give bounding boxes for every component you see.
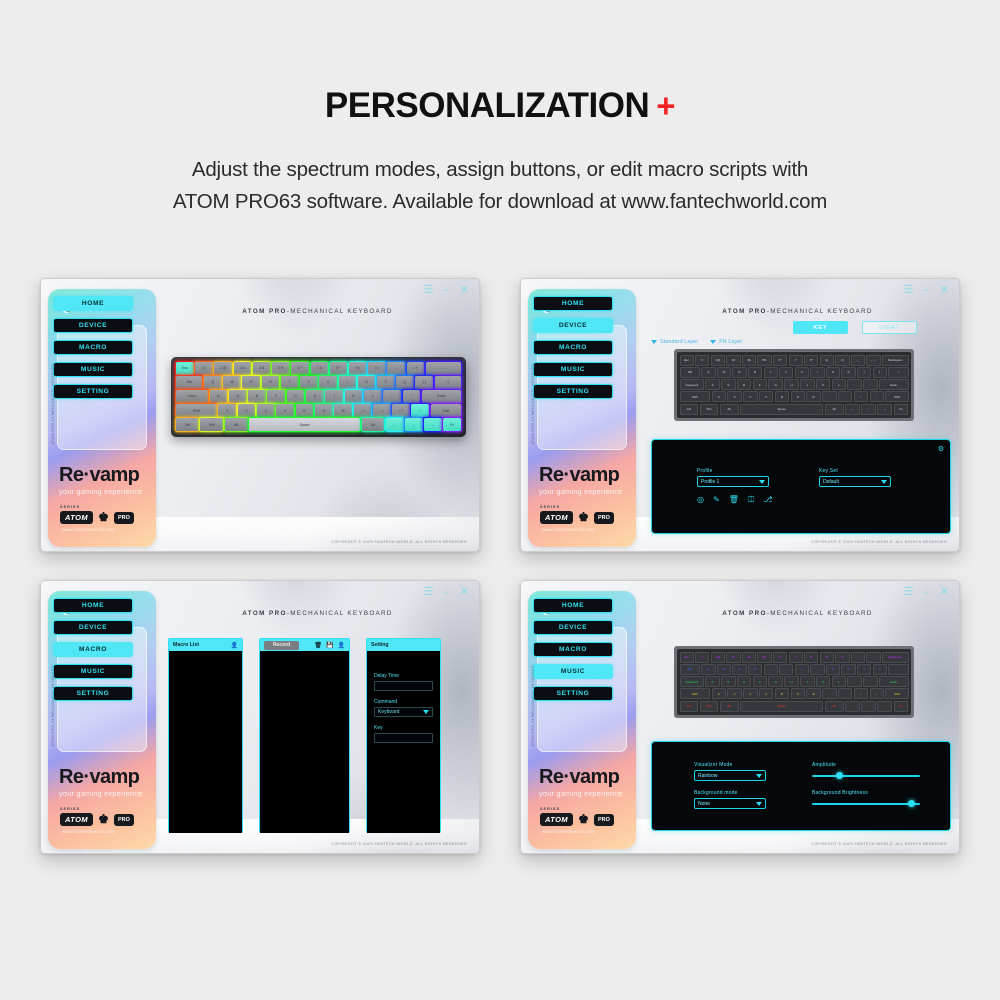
keyboard-key[interactable]: CapsLock bbox=[680, 379, 705, 390]
keyboard-key[interactable]: , bbox=[822, 391, 837, 402]
revamp-title-b: vamp bbox=[569, 766, 619, 788]
copyright-home: COPYRIGHT © 2023 FANTECH WORLD. ALL RIGH… bbox=[331, 539, 467, 544]
keyboard-key[interactable]: L bbox=[832, 676, 847, 687]
keyboard-key[interactable]: G bbox=[768, 676, 783, 687]
device-control-panel: ⚙ Profile Profile 1 ◎ ✎ 🗑 ⎅ ⎇ Key Set bbox=[651, 439, 951, 534]
macro-record-actions: 🗑 💾 👤 bbox=[314, 642, 345, 649]
sidebar-item-setting[interactable]: SETTING bbox=[53, 384, 133, 399]
keyboard-key[interactable]: Q bbox=[204, 376, 222, 389]
series-block-home: SERIES ATOM ♚ PRO bbox=[60, 505, 134, 524]
keyboard-key[interactable]: Alt bbox=[720, 701, 739, 712]
keyboard-key[interactable]: 6 ^ bbox=[291, 362, 309, 375]
fantech-shield-icon: ♚ bbox=[97, 813, 110, 826]
keyboard-key[interactable]: Shift bbox=[431, 404, 461, 417]
keyboard-key[interactable]: Shift bbox=[885, 391, 908, 402]
keyboard-key[interactable]: C bbox=[743, 688, 758, 699]
keyboard-key[interactable]: K bbox=[345, 390, 363, 403]
keyboard-row: CtrlWinAltSpaceAlt←↓→Fn bbox=[680, 701, 909, 712]
keyboard-key[interactable]: A bbox=[210, 390, 228, 403]
keyboard-key[interactable]: ; bbox=[847, 379, 862, 390]
keyboard-key[interactable]: Caps bbox=[176, 390, 208, 403]
keyboard-key[interactable]: T bbox=[764, 367, 778, 378]
amplitude-field: Amplitude bbox=[812, 762, 920, 777]
keyboard-key[interactable]: N bbox=[791, 688, 806, 699]
keyboard-key[interactable]: F bbox=[753, 379, 768, 390]
sidebar-item-device[interactable]: DEVICE bbox=[533, 620, 613, 635]
keyboard-key[interactable]: 1! bbox=[695, 652, 709, 663]
sidebar-item-macro[interactable]: MACRO bbox=[533, 642, 613, 657]
keyboard-row: Esc1 !2 @3 #4 $5 %6 ^7 &8 *9 (0 )- _= +← bbox=[176, 362, 461, 375]
background-brightness-field: Background Brightness bbox=[812, 790, 920, 805]
sidebar-vertical-text: ATOM PRO 63 MECHANICAL KEYBOARD bbox=[531, 363, 535, 445]
keyboard-key[interactable]: U bbox=[795, 664, 809, 675]
revamp-block-device: Re·vamp your gaming experience bbox=[539, 465, 622, 496]
sidebar-item-music[interactable]: MUSIC bbox=[533, 362, 613, 377]
badge-atom: ATOM bbox=[540, 511, 573, 524]
keyboard-key[interactable]: . bbox=[838, 391, 853, 402]
keyboard-key[interactable]: 7 bbox=[789, 652, 803, 663]
visualizer-mode-select[interactable]: Rainbow bbox=[694, 770, 766, 781]
keyboard-key[interactable]: Space bbox=[740, 701, 824, 712]
keyboard-key[interactable]: ←→ bbox=[866, 355, 880, 366]
sidebar-nav-macro: HOME DEVICE MACRO MUSIC SETTING bbox=[53, 598, 133, 708]
keyboard-key[interactable]: 3# bbox=[726, 355, 740, 366]
keyboard-key[interactable]: I bbox=[810, 664, 824, 675]
keyboard-key[interactable]: W bbox=[223, 376, 241, 389]
keyboard-key[interactable]: H bbox=[784, 379, 799, 390]
keyboard-key[interactable]: O bbox=[358, 376, 376, 389]
keyboard-key[interactable]: J bbox=[800, 379, 815, 390]
keyboard-key[interactable]: Shift bbox=[680, 391, 711, 402]
keyboard-key[interactable]: L bbox=[364, 390, 382, 403]
keyboard-key[interactable]: H bbox=[306, 390, 324, 403]
tab-light[interactable]: LIGHT bbox=[862, 321, 917, 334]
keyboard-key[interactable]: B bbox=[775, 391, 790, 402]
keyboard-key[interactable]: Enter bbox=[879, 379, 908, 390]
keyboard-key[interactable]: 2 @ bbox=[214, 362, 232, 375]
amplitude-slider-knob[interactable] bbox=[836, 772, 843, 779]
keyboard-key[interactable]: [ bbox=[857, 664, 871, 675]
macro-record-body[interactable] bbox=[260, 651, 349, 833]
sidebar-item-setting[interactable]: SETTING bbox=[53, 686, 133, 701]
tray-icon[interactable]: ☰ bbox=[904, 285, 914, 296]
series-label: SERIES bbox=[540, 505, 614, 509]
keyboard-key[interactable]: → bbox=[424, 418, 442, 431]
keyboard-key[interactable]: H bbox=[784, 676, 799, 687]
target-icon[interactable]: ◎ bbox=[697, 496, 704, 504]
record-button[interactable]: Record bbox=[264, 641, 299, 650]
keyboard-key[interactable]: X bbox=[727, 391, 742, 402]
keyboard-key[interactable]: Alt bbox=[362, 418, 385, 431]
sidebar-item-setting[interactable]: SETTING bbox=[533, 384, 613, 399]
keyboard-key[interactable]: 9( bbox=[820, 652, 834, 663]
keyboard-key[interactable]: G bbox=[287, 390, 305, 403]
keyboard-key[interactable]: C bbox=[743, 391, 758, 402]
keyboard-key[interactable]: / ? bbox=[392, 404, 410, 417]
series-block-macro: SERIES ATOM ♚ PRO bbox=[60, 807, 134, 826]
keyboard-key[interactable]: 4$ bbox=[742, 355, 756, 366]
keyboard-key[interactable]: O bbox=[826, 664, 840, 675]
keyboard-key[interactable]: 1 ! bbox=[195, 362, 213, 375]
layer-tab-fn[interactable]: FN Layer bbox=[710, 339, 742, 345]
keyboard-key[interactable]: Esc bbox=[680, 355, 694, 366]
macro-list-title: Macro List bbox=[173, 642, 199, 648]
close-icon[interactable]: ✕ bbox=[940, 587, 949, 598]
import-icon[interactable]: ⎅ bbox=[748, 496, 754, 504]
sidebar-item-home[interactable]: HOME bbox=[533, 598, 613, 613]
layer-tab-fn-label: FN Layer bbox=[719, 339, 742, 345]
chevron-down-icon bbox=[710, 340, 716, 344]
app-title-rest: -MECHANICAL KEYBOARD bbox=[767, 308, 873, 315]
close-icon[interactable]: ✕ bbox=[940, 285, 949, 296]
keyboard-key[interactable]: Backspace bbox=[882, 355, 909, 366]
keyboard-key[interactable]: R bbox=[748, 367, 762, 378]
keyboard-key[interactable]: / bbox=[854, 391, 869, 402]
revamp-block-home: Re·vamp your gaming experience bbox=[59, 465, 142, 496]
keyboard-key[interactable]: 8* bbox=[804, 355, 818, 366]
macro-list-body[interactable] bbox=[169, 651, 242, 833]
keyset-field: Key Set Default bbox=[819, 468, 891, 487]
keyboard-key[interactable]: 4 $ bbox=[253, 362, 271, 375]
keyboard-key[interactable]: Tab bbox=[176, 376, 202, 389]
keyboard-key[interactable]: E bbox=[732, 367, 746, 378]
keyboard-key[interactable]: 6^ bbox=[773, 652, 787, 663]
keyboard-key[interactable]: Alt bbox=[720, 404, 739, 415]
sidebar-item-music[interactable]: MUSIC bbox=[53, 362, 133, 377]
keyboard-key[interactable]: G bbox=[768, 379, 783, 390]
keyboard-key[interactable]: [ bbox=[857, 367, 871, 378]
keyboard-key[interactable]: A bbox=[705, 379, 720, 390]
keyboard-key[interactable]: S bbox=[721, 379, 736, 390]
keyboard-key[interactable]: 8* bbox=[804, 652, 818, 663]
keyboard-key[interactable]: L bbox=[832, 379, 847, 390]
background-mode-select[interactable]: None bbox=[694, 798, 766, 809]
close-icon[interactable]: ✕ bbox=[460, 285, 469, 296]
keyboard-key[interactable]: X bbox=[727, 688, 742, 699]
keyboard-key[interactable]: N bbox=[791, 391, 806, 402]
keyboard-key[interactable]: 0) bbox=[835, 355, 849, 366]
keyboard-key[interactable]: 7 & bbox=[311, 362, 329, 375]
series-label: SERIES bbox=[60, 807, 134, 811]
keyboard-key[interactable]: R bbox=[262, 376, 280, 389]
delete-icon[interactable]: 🗑 bbox=[314, 642, 322, 649]
keyboard-key[interactable]: Y bbox=[779, 367, 793, 378]
delay-time-label: Delay Time bbox=[374, 673, 433, 679]
layer-tab-standard[interactable]: Standard Layer bbox=[651, 339, 698, 345]
keyboard-key[interactable]: 7 bbox=[789, 355, 803, 366]
keyboard-row: CapsLockASDFGHJKL;’Enter bbox=[680, 676, 909, 687]
keyboard-key[interactable]: Win bbox=[200, 418, 223, 431]
fantech-shield-icon: ♚ bbox=[97, 511, 110, 524]
app-title-bold: ATOM PRO bbox=[242, 308, 287, 315]
keyboard-key[interactable]: → bbox=[877, 404, 892, 415]
keyboard-row: CtrlWinAltSpaceAlt←↓→Fn bbox=[176, 418, 461, 431]
keyboard-key[interactable]: J bbox=[325, 390, 343, 403]
keyboard-key[interactable]: Tab bbox=[680, 664, 700, 675]
keyboard-key[interactable]: Shift bbox=[680, 688, 711, 699]
keyboard-key[interactable]: Z bbox=[712, 391, 727, 402]
keyboard-key[interactable]: Tab bbox=[680, 367, 700, 378]
keyboard-key[interactable]: 5 % bbox=[272, 362, 290, 375]
keyboard-key[interactable]: Fn bbox=[894, 701, 909, 712]
sidebar-item-device[interactable]: DEVICE bbox=[53, 318, 133, 333]
keyboard-key[interactable]: W bbox=[717, 664, 731, 675]
tray-icon[interactable]: ☰ bbox=[424, 285, 434, 296]
keyboard-key[interactable]: D bbox=[248, 390, 266, 403]
revamp-title-a: Re bbox=[539, 464, 563, 486]
keyboard-key[interactable]: Alt bbox=[825, 701, 844, 712]
sidebar-item-home[interactable]: HOME bbox=[53, 296, 133, 311]
keyboard-key[interactable]: \ bbox=[888, 664, 908, 675]
keyboard-key[interactable]: ↓ bbox=[861, 701, 876, 712]
keyset-value: Default bbox=[823, 479, 839, 485]
keyboard-key[interactable]: K bbox=[816, 379, 831, 390]
delay-time-input[interactable] bbox=[374, 681, 433, 691]
keyboard-key[interactable]: M bbox=[806, 688, 821, 699]
sidebar-item-macro[interactable]: MACRO bbox=[53, 642, 133, 657]
keyboard-key[interactable]: 8 * bbox=[330, 362, 348, 375]
keyboard-key[interactable]: M bbox=[334, 404, 352, 417]
keyboard-key[interactable]: Enter bbox=[879, 676, 908, 687]
keyboard-key[interactable]: Space bbox=[740, 404, 824, 415]
keyboard-key[interactable]: Ctrl bbox=[680, 404, 699, 415]
keyboard-key[interactable]: 1! bbox=[695, 355, 709, 366]
key-input[interactable] bbox=[374, 733, 433, 743]
keyboard-key[interactable]: ↑ bbox=[870, 688, 885, 699]
keyboard-key[interactable]: C bbox=[257, 404, 275, 417]
close-icon[interactable]: ✕ bbox=[460, 587, 469, 598]
sidebar-item-music[interactable]: MUSIC bbox=[53, 664, 133, 679]
keyboard-key[interactable]: . bbox=[838, 688, 853, 699]
keyboard-key[interactable]: X bbox=[238, 404, 256, 417]
revamp-block-macro: Re·vamp your gaming experience bbox=[59, 767, 142, 798]
keyboard-key[interactable]: 2@ bbox=[711, 355, 725, 366]
keyboard-key[interactable]: 0 ) bbox=[368, 362, 386, 375]
keyboard-key[interactable]: Backspace bbox=[882, 652, 909, 663]
keyboard-key[interactable]: Fn bbox=[443, 418, 461, 431]
user-icon[interactable]: 👤 bbox=[338, 642, 345, 649]
export-icon[interactable]: ⎇ bbox=[763, 496, 772, 504]
sidebar-item-music[interactable]: MUSIC bbox=[533, 664, 613, 679]
series-block-device: SERIES ATOM ♚ PRO bbox=[540, 505, 614, 524]
keyboard-key[interactable]: 3 # bbox=[234, 362, 252, 375]
key-mapping-keyboard[interactable]: Esc1!2@3#4$5%6^78*9(0)-_←→BackspaceTabQW… bbox=[674, 349, 914, 421]
keyboard-key[interactable]: \ bbox=[888, 367, 908, 378]
keyboard-key[interactable]: 9 ( bbox=[349, 362, 367, 375]
save-icon[interactable]: 💾 bbox=[326, 642, 333, 649]
keyboard-key[interactable]: S bbox=[229, 390, 247, 403]
macro-list-user-icon[interactable]: 👤 bbox=[231, 642, 238, 649]
sidebar-vertical-text: ATOM PRO 63 MECHANICAL KEYBOARD bbox=[51, 363, 55, 445]
keyboard-key[interactable]: P bbox=[841, 664, 855, 675]
profile-select[interactable]: Profile 1 bbox=[697, 476, 769, 487]
keyboard-key[interactable]: = + bbox=[407, 362, 425, 375]
keyboard-key[interactable]: Win bbox=[700, 404, 719, 415]
layer-tabs: Standard Layer FN Layer bbox=[651, 339, 742, 345]
minimize-icon[interactable]: – bbox=[924, 285, 930, 296]
keyboard-key[interactable]: ] } bbox=[415, 376, 433, 389]
visualizer-mode-label: Visualizer Mode bbox=[694, 762, 766, 768]
keyboard-key[interactable]: 5% bbox=[757, 652, 771, 663]
keyboard-key[interactable]: O bbox=[826, 367, 840, 378]
keyboard-key[interactable]: B bbox=[775, 688, 790, 699]
keyset-select[interactable]: Default bbox=[819, 476, 891, 487]
keyboard-key[interactable]: B bbox=[296, 404, 314, 417]
sidebar-item-device[interactable]: DEVICE bbox=[53, 620, 133, 635]
keyboard-key[interactable]: Q bbox=[701, 367, 715, 378]
keyboard-key[interactable]: ← bbox=[845, 404, 860, 415]
keyboard-key[interactable]: Enter bbox=[422, 390, 461, 403]
tray-icon[interactable]: ☰ bbox=[424, 587, 434, 598]
profile-field: Profile Profile 1 ◎ ✎ 🗑 ⎅ ⎇ bbox=[697, 468, 772, 504]
keyboard-key[interactable]: ; bbox=[847, 676, 862, 687]
sidebar-item-macro[interactable]: MACRO bbox=[53, 340, 133, 355]
gear-icon[interactable]: ⚙ bbox=[938, 445, 944, 453]
amplitude-slider[interactable] bbox=[812, 775, 920, 777]
app-window-music: ☰ – ✕ ATOM PRO-MECHANICAL KEYBOARD Esc1!… bbox=[520, 580, 960, 854]
sidebar-item-macro[interactable]: MACRO bbox=[533, 340, 613, 355]
keyboard-key[interactable]: W bbox=[717, 367, 731, 378]
keyboard-key[interactable]: ← bbox=[386, 418, 404, 431]
keyboard-key[interactable]: -_ bbox=[851, 355, 865, 366]
keyboard-key[interactable]: E bbox=[732, 664, 746, 675]
keyboard-key[interactable]: Fn bbox=[894, 404, 909, 415]
keyboard-key[interactable]: V bbox=[759, 391, 774, 402]
keyboard-key[interactable]: V bbox=[276, 404, 294, 417]
keyboard-key[interactable]: Z bbox=[712, 688, 727, 699]
keyboard-key[interactable]: A bbox=[705, 676, 720, 687]
keyboard-key[interactable]: D bbox=[737, 676, 752, 687]
keyboard-key[interactable]: Shift bbox=[885, 688, 908, 699]
macro-list-box: Macro List 👤 bbox=[168, 638, 243, 833]
keyboard-key[interactable]: T bbox=[281, 376, 299, 389]
revamp-title-a: Re bbox=[539, 766, 563, 788]
keyboard-key[interactable]: R bbox=[748, 664, 762, 675]
background-brightness-slider-knob[interactable] bbox=[908, 800, 915, 807]
keyboard-key[interactable]: P bbox=[377, 376, 395, 389]
keyboard-key[interactable]: , < bbox=[354, 404, 372, 417]
keyboard-key[interactable]: Y bbox=[779, 664, 793, 675]
keyboard-key[interactable]: I bbox=[339, 376, 357, 389]
keyboard-key[interactable]: Ctrl bbox=[176, 418, 199, 431]
keyboard-key[interactable]: , bbox=[822, 688, 837, 699]
keyboard-key[interactable]: [ { bbox=[396, 376, 414, 389]
chevron-down-icon bbox=[881, 480, 887, 484]
sidebar-item-home[interactable]: HOME bbox=[53, 598, 133, 613]
keyboard-key[interactable]: F bbox=[267, 390, 285, 403]
keyboard-key[interactable]: Alt bbox=[825, 404, 844, 415]
keyboard-key[interactable]: / bbox=[854, 688, 869, 699]
revamp-title: Re·vamp bbox=[59, 767, 142, 787]
keyboard-key[interactable]: U bbox=[795, 367, 809, 378]
keyboard-key[interactable]: Z bbox=[218, 404, 236, 417]
keyboard-key[interactable]: D bbox=[737, 379, 752, 390]
edit-icon[interactable]: ✎ bbox=[713, 496, 720, 504]
keyboard-key[interactable]: ← bbox=[426, 362, 461, 375]
keyboard-key[interactable]: S bbox=[721, 676, 736, 687]
keyboard-key[interactable]: ↑ bbox=[411, 404, 429, 417]
keyboard-key[interactable]: U bbox=[319, 376, 337, 389]
keyboard-key[interactable]: F bbox=[753, 676, 768, 687]
keyboard-key[interactable]: 9( bbox=[820, 355, 834, 366]
keyboard-key[interactable]: Y bbox=[300, 376, 318, 389]
keyboard-key[interactable]: ' ” bbox=[403, 390, 421, 403]
keyboard-key[interactable]: Space bbox=[249, 418, 360, 431]
keyboard-key[interactable]: ’ bbox=[863, 676, 878, 687]
keyboard-key[interactable]: ] bbox=[873, 367, 887, 378]
sidebar-item-device[interactable]: DEVICE bbox=[533, 318, 613, 333]
keyboard-key[interactable]: 3# bbox=[726, 652, 740, 663]
keyboard-key[interactable]: Q bbox=[701, 664, 715, 675]
keyboard-key[interactable]: P bbox=[841, 367, 855, 378]
sidebar-item-home[interactable]: HOME bbox=[533, 296, 613, 311]
badge-atom: ATOM bbox=[60, 813, 93, 826]
keyboard-key[interactable]: ← bbox=[845, 701, 860, 712]
sidebar-item-setting[interactable]: SETTING bbox=[533, 686, 613, 701]
keyboard-key[interactable]: V bbox=[759, 688, 774, 699]
keyboard-key[interactable]: ’ bbox=[863, 379, 878, 390]
revamp-title-b: vamp bbox=[569, 464, 619, 486]
command-select[interactable]: Keyboard bbox=[374, 707, 433, 717]
keyboard-key[interactable]: T bbox=[764, 664, 778, 675]
keyboard-key[interactable]: 4$ bbox=[742, 652, 756, 663]
keyboard-key[interactable]: CapsLock bbox=[680, 676, 705, 687]
keyboard-row: CapsLockASDFGHJKL;’Enter bbox=[680, 379, 909, 390]
keyboard-key[interactable]: J bbox=[800, 676, 815, 687]
keyboard-row: TabQWERTYUIOP[ {] }\ | bbox=[176, 376, 461, 389]
keyboard-key[interactable]: \ | bbox=[435, 376, 461, 389]
keyboard-key[interactable]: Esc bbox=[176, 362, 194, 375]
minimize-icon[interactable]: – bbox=[444, 587, 450, 598]
keyboard-key[interactable]: M bbox=[806, 391, 821, 402]
keyboard-key[interactable]: ; : bbox=[383, 390, 401, 403]
tab-key[interactable]: KEY bbox=[793, 321, 848, 334]
keyboard-key[interactable]: Win bbox=[700, 701, 719, 712]
series-label: SERIES bbox=[540, 807, 614, 811]
keyboard-key[interactable]: Alt bbox=[225, 418, 248, 431]
music-keyboard-preview[interactable]: Esc1!2@3#4$5%6^78*9(0)-_←→BackspaceTabQW… bbox=[674, 646, 914, 718]
keyboard-key[interactable]: ] bbox=[873, 664, 887, 675]
keyboard-key[interactable]: K bbox=[816, 676, 831, 687]
keyboard-key[interactable]: Ctrl bbox=[680, 701, 699, 712]
keyboard-key[interactable]: ↓ bbox=[861, 404, 876, 415]
keyboard-key[interactable]: ←→ bbox=[866, 652, 880, 663]
background-brightness-slider[interactable] bbox=[812, 803, 920, 805]
keyboard-key[interactable]: N bbox=[315, 404, 333, 417]
minimize-icon[interactable]: – bbox=[924, 587, 930, 598]
keyboard-key[interactable]: ↓ bbox=[405, 418, 423, 431]
keyboard-key[interactable]: . > bbox=[373, 404, 391, 417]
tray-icon[interactable]: ☰ bbox=[904, 587, 914, 598]
keyboard-key[interactable]: Esc bbox=[680, 652, 694, 663]
keyboard-key[interactable]: → bbox=[877, 701, 892, 712]
minimize-icon[interactable]: – bbox=[444, 285, 450, 296]
keyboard-key[interactable]: 0) bbox=[835, 652, 849, 663]
delete-icon[interactable]: 🗑 bbox=[729, 496, 739, 504]
keyboard-key[interactable]: Shift bbox=[176, 404, 217, 417]
keyboard-key[interactable]: -_ bbox=[851, 652, 865, 663]
keyboard-key[interactable]: - _ bbox=[387, 362, 405, 375]
keyboard-key[interactable]: I bbox=[810, 367, 824, 378]
keyboard-key[interactable]: 2@ bbox=[711, 652, 725, 663]
window-controls-music: ☰ – ✕ bbox=[904, 587, 949, 598]
app-title-bold: ATOM PRO bbox=[722, 610, 767, 617]
keyboard-key[interactable]: 6^ bbox=[773, 355, 787, 366]
keyboard-key[interactable]: E bbox=[242, 376, 260, 389]
keyboard-preview-rgb[interactable]: Esc1 !2 @3 #4 $5 %6 ^7 &8 *9 (0 )- _= +←… bbox=[171, 357, 466, 437]
keyboard-key[interactable]: 5% bbox=[757, 355, 771, 366]
keyboard-key[interactable]: ↑ bbox=[870, 391, 885, 402]
